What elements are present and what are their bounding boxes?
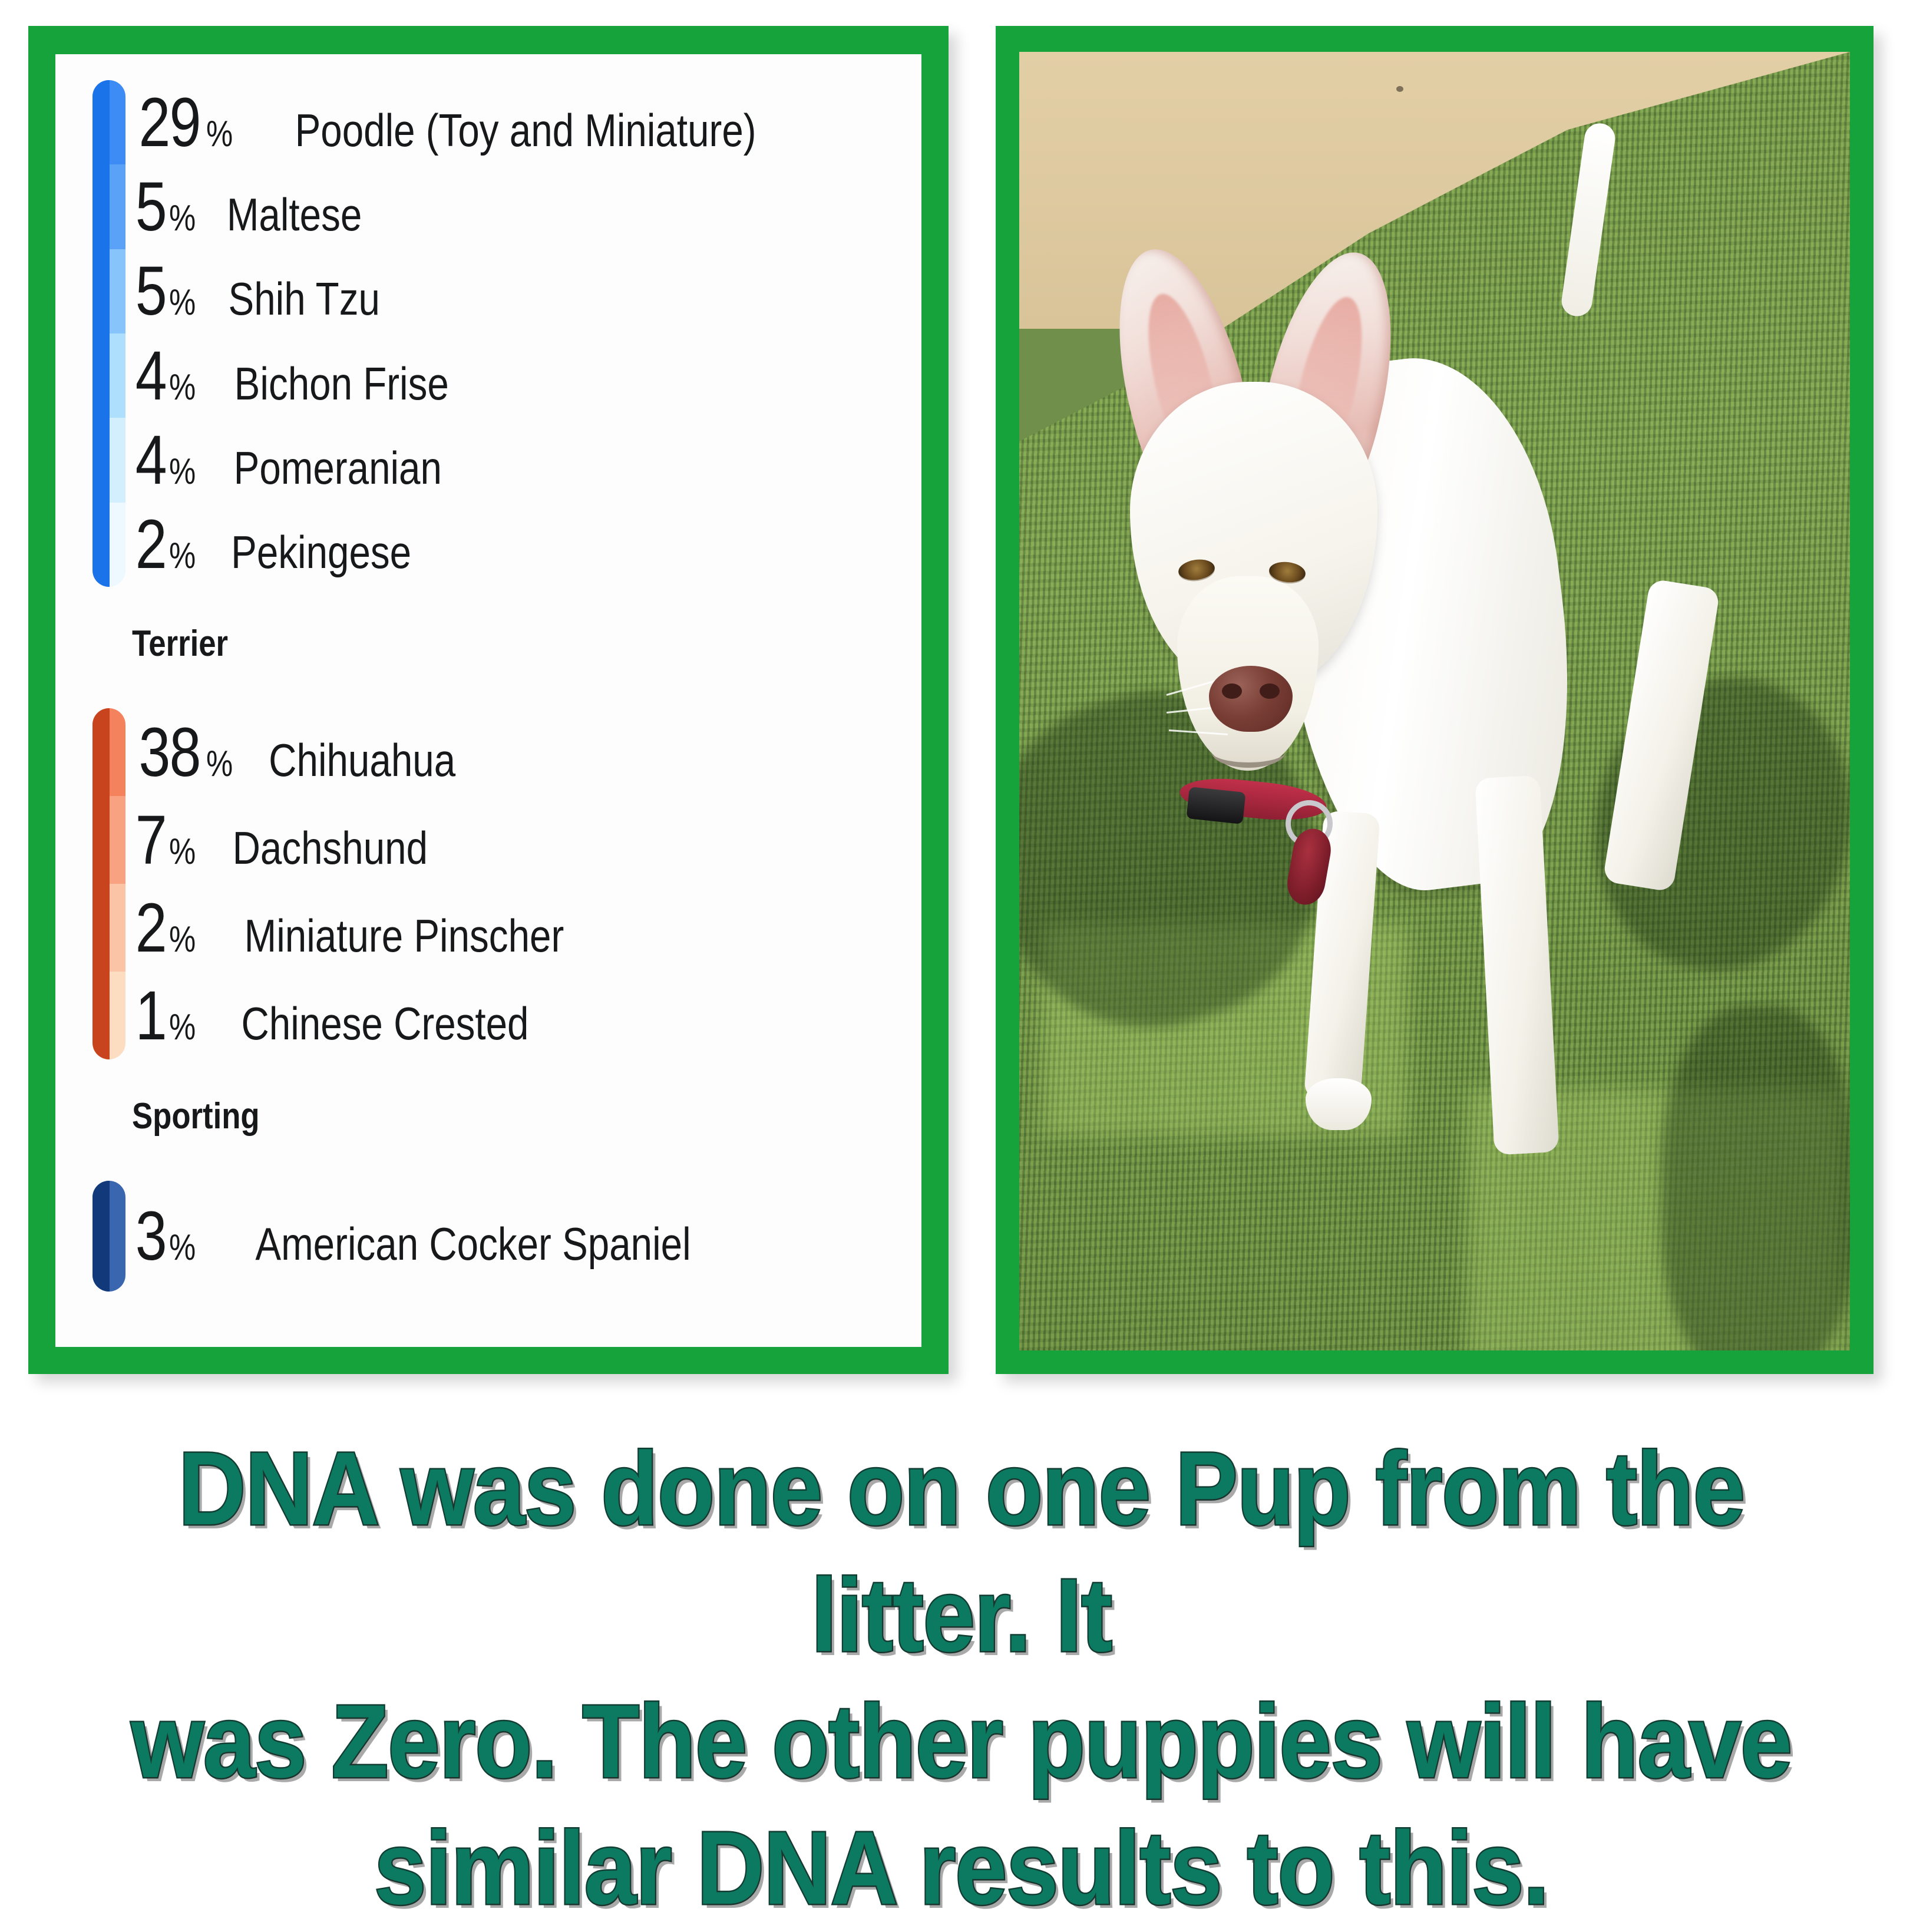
breed-row[interactable]: 2 % Pekingese [132,510,904,579]
percent-sign: % [169,200,196,237]
breed-percent: 4 [136,341,166,411]
percent-sign: % [169,834,196,870]
breed-rows: 29 % Poodle (Toy and Miniature) 5 % Malt… [132,80,904,587]
group-title-terrier: Terrier [132,626,788,662]
breed-percent: 38 [138,718,200,787]
breed-percent: 2 [136,893,166,963]
caption-line-1: DNA was done on one Pup from the litter.… [96,1426,1827,1679]
breed-percent: 5 [136,256,166,326]
breed-name: Bichon Frise [234,361,448,407]
breed-row[interactable]: 5 % Shih Tzu [132,256,904,326]
breed-percent: 2 [136,510,166,579]
breed-color-bar-blue [92,80,125,587]
percent-sign: % [206,746,233,782]
dog-nose [1209,666,1293,732]
dog-photo-panel [996,26,1874,1374]
breed-percent: 29 [138,88,200,157]
breed-row[interactable]: 38 % Chihuahua [132,718,904,787]
breed-bar-wrap [86,80,132,587]
breed-rows: 38 % Chihuahua 7 % Dachshund 2 % Miniatu… [132,708,904,1059]
breed-row[interactable]: 29 % Poodle (Toy and Miniature) [132,88,904,157]
breed-name: Miniature Pinscher [244,913,564,959]
dna-results-card: 29 % Poodle (Toy and Miniature) 5 % Malt… [55,54,921,1347]
percent-sign: % [169,538,196,574]
percent-sign: % [169,369,196,406]
breed-name: Chihuahua [269,737,456,783]
breed-row[interactable]: 4 % Bichon Frise [132,341,904,411]
percent-sign: % [206,116,233,153]
dog-paw [1306,1078,1372,1130]
caption-line-3: similar DNA results to this. [96,1805,1827,1932]
breed-row[interactable]: 1 % Chinese Crested [132,981,904,1051]
breed-name: American Cocker Spaniel [255,1221,690,1267]
breed-bar-wrap [86,1181,132,1292]
breed-percent: 3 [136,1201,166,1271]
dog-mouth [1211,735,1286,768]
breed-row[interactable]: 7 % Dachshund [132,805,904,875]
percent-sign: % [169,454,196,490]
caption-text: DNA was done on one Pup from the litter.… [96,1426,1827,1932]
breed-name: Dachshund [232,825,427,871]
group-title-sporting: Sporting [132,1098,788,1135]
percent-sign: % [169,1230,196,1266]
breed-percent: 5 [136,172,166,242]
panels-row: 29 % Poodle (Toy and Miniature) 5 % Malt… [0,0,1923,1385]
breed-color-bar-navy [92,1181,125,1292]
breed-group-sporting: 3 % American Cocker Spaniel [86,1181,904,1292]
breed-row[interactable]: 3 % American Cocker Spaniel [132,1201,904,1271]
breed-bar-wrap [86,708,132,1059]
collar-buckle [1186,787,1245,824]
breed-color-bar-orange [92,708,125,1059]
breed-rows: 3 % American Cocker Spaniel [132,1181,904,1292]
breed-percent: 1 [136,981,166,1051]
breed-name: Chinese Crested [241,1000,528,1046]
percent-sign: % [169,922,196,958]
breed-group-companion: 29 % Poodle (Toy and Miniature) 5 % Malt… [86,80,904,587]
caption-line-2: was Zero. The other puppies will have [96,1679,1827,1805]
percent-sign: % [169,285,196,321]
breed-group-terrier: 38 % Chihuahua 7 % Dachshund 2 % Miniatu… [86,708,904,1059]
breed-row[interactable]: 5 % Maltese [132,172,904,242]
breed-percent: 4 [136,425,166,495]
breed-row[interactable]: 2 % Miniature Pinscher [132,893,904,963]
breed-name: Shih Tzu [228,276,379,322]
percent-sign: % [169,1009,196,1046]
breed-percent: 7 [136,805,166,875]
dna-results-panel: 29 % Poodle (Toy and Miniature) 5 % Malt… [28,26,949,1374]
breed-name: Pekingese [231,529,411,575]
breed-name: Maltese [227,191,362,237]
breed-name: Poodle (Toy and Miniature) [295,107,756,153]
dog-photo [1019,52,1850,1350]
breed-row[interactable]: 4 % Pomeranian [132,425,904,495]
breed-name: Pomeranian [233,445,441,491]
